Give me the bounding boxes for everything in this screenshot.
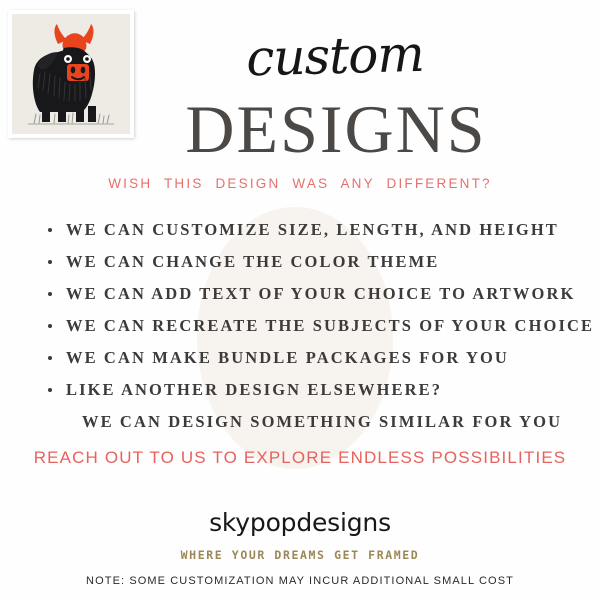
artwork-thumbnail[interactable] xyxy=(8,10,134,138)
list-item-label: WE CAN CHANGE THE COLOR THEME xyxy=(66,252,439,271)
list-item: WE CAN CUSTOMIZE SIZE, LENGTH, AND HEIGH… xyxy=(44,214,589,246)
feature-list: WE CAN CUSTOMIZE SIZE, LENGTH, AND HEIGH… xyxy=(44,214,589,438)
bullet-icon xyxy=(48,228,52,232)
black-yak-bull-painting xyxy=(12,14,130,134)
list-item: WE CAN RECREATE THE SUBJECTS OF YOUR CHO… xyxy=(44,310,589,342)
list-item: LIKE ANOTHER DESIGN ELSEWHERE? xyxy=(44,374,589,406)
bullet-icon xyxy=(48,356,52,360)
bullet-icon xyxy=(48,324,52,328)
brand-name: skypopdesigns xyxy=(0,508,600,537)
disclaimer-note: NOTE: SOME CUSTOMIZATION MAY INCUR ADDIT… xyxy=(0,575,600,587)
bullet-icon xyxy=(48,388,52,392)
list-item-continuation: WE CAN DESIGN SOMETHING SIMILAR FOR YOU xyxy=(44,406,589,438)
brand-tagline: WHERE YOUR DREAMS GET FRAMED xyxy=(0,548,600,562)
custom-designs-poster: custom DESIGNS WISH THIS DESIGN WAS ANY … xyxy=(0,0,600,600)
call-to-action-text: REACH OUT TO US TO EXPLORE ENDLESS POSSI… xyxy=(0,448,600,468)
bullet-icon xyxy=(48,292,52,296)
list-item: WE CAN ADD TEXT OF YOUR CHOICE TO ARTWOR… xyxy=(44,278,589,310)
list-item-label: WE CAN CUSTOMIZE SIZE, LENGTH, AND HEIGH… xyxy=(66,220,559,239)
subheadline: WISH THIS DESIGN WAS ANY DIFFERENT? xyxy=(0,176,600,191)
list-item-label: WE CAN ADD TEXT OF YOUR CHOICE TO ARTWOR… xyxy=(66,284,575,303)
list-item: WE CAN MAKE BUNDLE PACKAGES FOR YOU xyxy=(44,342,589,374)
list-item-label: WE CAN RECREATE THE SUBJECTS OF YOUR CHO… xyxy=(66,316,594,335)
list-item-label: LIKE ANOTHER DESIGN ELSEWHERE? xyxy=(66,380,442,399)
artwork-canvas xyxy=(12,14,130,134)
list-item: WE CAN CHANGE THE COLOR THEME xyxy=(44,246,589,278)
list-item-label: WE CAN MAKE BUNDLE PACKAGES FOR YOU xyxy=(66,348,509,367)
bullet-icon xyxy=(48,260,52,264)
